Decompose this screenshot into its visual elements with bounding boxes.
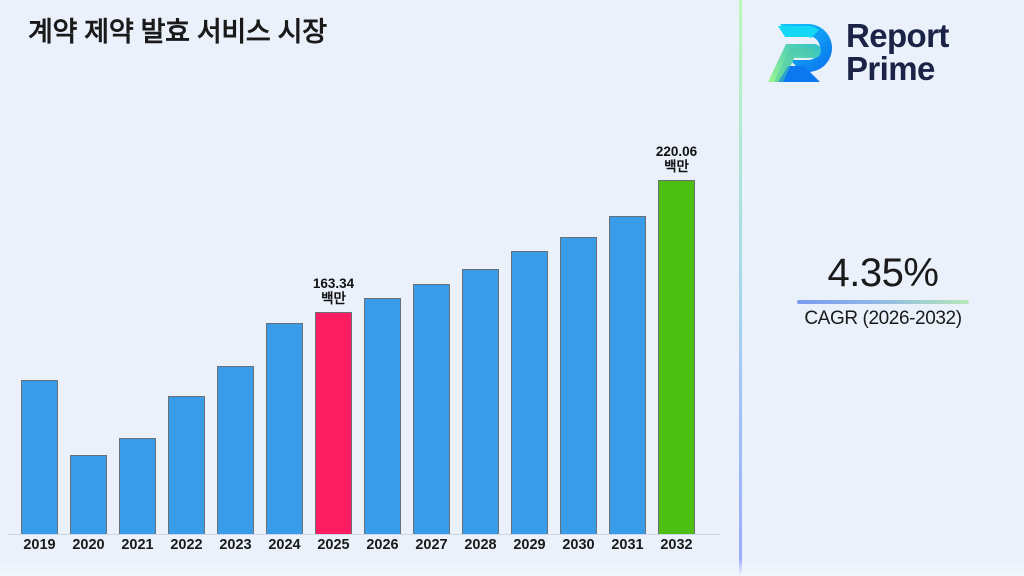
infographic-page: 계약 제약 발효 서비스 시장 163.34백만220.06백만 2019202… [0, 0, 1024, 576]
x-axis-line [8, 534, 720, 535]
cagr-divider-rule [797, 300, 969, 304]
bar-slot-2028 [462, 121, 499, 534]
bar-slot-2020 [70, 121, 107, 534]
bar-2029[interactable] [511, 251, 548, 534]
x-tick-2025: 2025 [315, 537, 352, 565]
bar-2027[interactable] [413, 284, 450, 534]
bar-2025[interactable] [315, 312, 352, 534]
x-tick-2023: 2023 [217, 537, 254, 565]
bar-value-label-2032: 220.06백만 [656, 144, 697, 174]
bar-2026[interactable] [364, 298, 401, 534]
bar-slot-2027 [413, 121, 450, 534]
x-tick-2024: 2024 [266, 537, 303, 565]
bar-2023[interactable] [217, 366, 254, 534]
bar-slot-2024 [266, 121, 303, 534]
bar-2019[interactable] [21, 380, 58, 534]
brand-logo-text: Report Prime [846, 20, 949, 85]
bar-2031[interactable] [609, 216, 646, 534]
chart-panel: 계약 제약 발효 서비스 시장 163.34백만220.06백만 2019202… [0, 0, 740, 576]
bar-slot-2019 [21, 121, 58, 534]
report-prime-r-mark-icon [764, 18, 836, 88]
bar-2032[interactable] [658, 180, 695, 534]
brand-logo-line2: Prime [846, 50, 935, 87]
bar-2020[interactable] [70, 455, 107, 534]
brand-logo-line1: Report [846, 17, 949, 54]
cagr-value: 4.35% [742, 252, 1024, 295]
bar-value-unit: 백만 [313, 291, 354, 306]
x-tick-2019: 2019 [21, 537, 58, 565]
brand-logo: Report Prime [764, 12, 1014, 94]
bar-value-unit: 백만 [656, 159, 697, 174]
page-title: 계약 제약 발효 서비스 시장 [28, 10, 327, 49]
cagr-caption: CAGR (2026-2032) [742, 308, 1024, 330]
x-tick-2029: 2029 [511, 537, 548, 565]
bar-2022[interactable] [168, 396, 205, 534]
bar-slot-2021 [119, 121, 156, 534]
x-tick-2020: 2020 [70, 537, 107, 565]
bar-slot-2025: 163.34백만 [315, 121, 352, 534]
bar-slot-2029 [511, 121, 548, 534]
x-tick-2021: 2021 [119, 537, 156, 565]
bar-value-number: 220.06 [656, 144, 697, 159]
plot-area: 163.34백만220.06백만 [0, 120, 740, 535]
x-tick-2031: 2031 [609, 537, 646, 565]
bar-2028[interactable] [462, 269, 499, 534]
bar-slot-2032: 220.06백만 [658, 121, 695, 534]
x-axis-tick-labels: 2019202020212022202320242025202620272028… [21, 537, 719, 565]
x-tick-2027: 2027 [413, 537, 450, 565]
bar-slot-2026 [364, 121, 401, 534]
bar-slot-2023 [217, 121, 254, 534]
bar-value-label-2025: 163.34백만 [313, 276, 354, 306]
x-tick-2026: 2026 [364, 537, 401, 565]
bar-value-number: 163.34 [313, 276, 354, 291]
x-tick-2022: 2022 [168, 537, 205, 565]
bar-slot-2030 [560, 121, 597, 534]
bar-2024[interactable] [266, 323, 303, 534]
bar-2021[interactable] [119, 438, 156, 534]
cagr-block: 4.35% CAGR (2026-2032) [742, 252, 1024, 330]
bar-2030[interactable] [560, 237, 597, 534]
x-tick-2028: 2028 [462, 537, 499, 565]
side-panel: Report Prime 4.35% CAGR (2026-2032) [742, 0, 1024, 576]
bar-series: 163.34백만220.06백만 [21, 121, 719, 534]
bar-slot-2022 [168, 121, 205, 534]
bar-slot-2031 [609, 121, 646, 534]
x-tick-2030: 2030 [560, 537, 597, 565]
x-tick-2032: 2032 [658, 537, 695, 565]
